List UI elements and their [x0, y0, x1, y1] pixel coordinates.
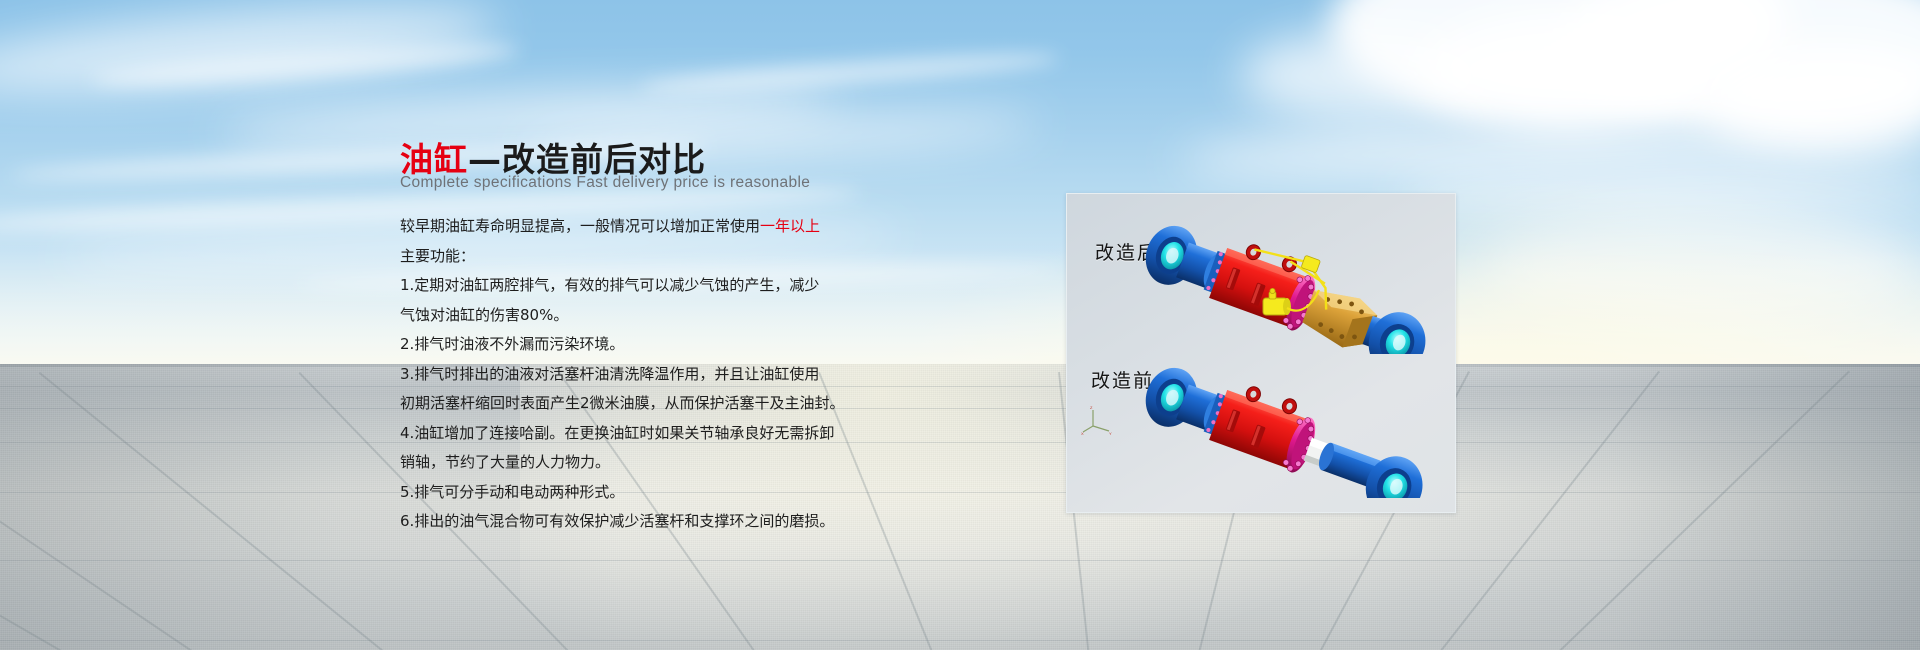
body-line: 1.定期对油缸两腔排气，有效的排气可以减少气蚀的产生，减少 — [400, 271, 920, 301]
body-line: 6.排出的油气混合物可有效保护减少活塞杆和支撑环之间的磨损。 — [400, 507, 920, 537]
page-subtitle: Complete specifications Fast delivery pr… — [400, 174, 810, 192]
body-text-highlight: 一年以上 — [760, 217, 820, 235]
body-line: 气蚀对油缸的伤害80%。 — [400, 301, 920, 331]
body-text: 5.排气可分手动和电动两种形式。 — [400, 483, 624, 501]
product-image-panel[interactable]: 改造后 改造前 Z X Y — [1066, 193, 1456, 513]
body-text: 销轴，节约了大量的人力物力。 — [400, 453, 610, 471]
body-line: 主要功能： — [400, 242, 920, 272]
body-line: 5.排气可分手动和电动两种形式。 — [400, 478, 920, 508]
body-text: 较早期油缸寿命明显提高，一般情况可以增加正常使用 — [400, 217, 760, 235]
body-text: 主要功能： — [400, 247, 475, 265]
body-line: 3.排气时排出的油液对活塞杆油清洗降温作用，并且让油缸使用 — [400, 360, 920, 390]
body-line: 较早期油缸寿命明显提高，一般情况可以增加正常使用一年以上 — [400, 212, 920, 242]
body-line: 初期活塞杆缩回时表面产生2微米油膜，从而保护活塞干及主油封。 — [400, 389, 920, 419]
cylinder-after-modification — [1067, 194, 1456, 354]
body-text: 4.油缸增加了连接哈副。在更换油缸时如果关节轴承良好无需拆卸 — [400, 424, 834, 442]
body-line: 2.排气时油液不外漏而污染环境。 — [400, 330, 920, 360]
body-text: 1.定期对油缸两腔排气，有效的排气可以减少气蚀的产生，减少 — [400, 276, 819, 294]
banner-stage: 油缸—改造前后对比 Complete specifications Fast d… — [0, 0, 1920, 650]
body-text: 6.排出的油气混合物可有效保护减少活塞杆和支撑环之间的磨损。 — [400, 512, 834, 530]
body-text: 初期活塞杆缩回时表面产生2微米油膜，从而保护活塞干及主油封。 — [400, 394, 845, 412]
feature-list: 较早期油缸寿命明显提高，一般情况可以增加正常使用一年以上 主要功能： 1.定期对… — [400, 212, 920, 537]
cylinder-before-modification — [1067, 338, 1456, 498]
body-text: 2.排气时油液不外漏而污染环境。 — [400, 335, 624, 353]
body-text: 气蚀对油缸的伤害80%。 — [400, 306, 568, 324]
body-text: 3.排气时排出的油液对活塞杆油清洗降温作用，并且让油缸使用 — [400, 365, 819, 383]
body-line: 4.油缸增加了连接哈副。在更换油缸时如果关节轴承良好无需拆卸 — [400, 419, 920, 449]
body-line: 销轴，节约了大量的人力物力。 — [400, 448, 920, 478]
